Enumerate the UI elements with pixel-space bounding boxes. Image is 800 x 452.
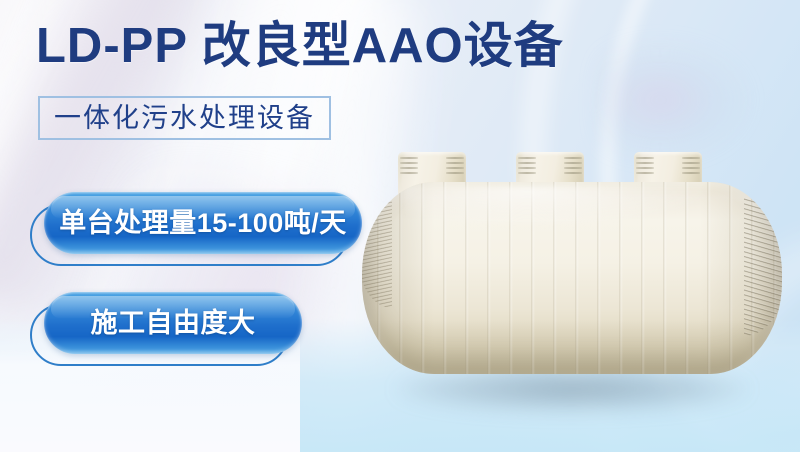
feature-pill-1-label: 单台处理量15-100吨/天 <box>59 210 347 237</box>
background-prism-tint <box>600 40 750 160</box>
product-banner: LD-PP 改良型AAO设备 一体化污水处理设备 单台处理量15-100吨/天 … <box>0 0 800 452</box>
tank-highlight <box>404 186 712 226</box>
feature-pill-2-body[interactable]: 施工自由度大 <box>44 292 302 354</box>
subtitle-box: 一体化污水处理设备 <box>38 96 331 140</box>
product-tank-illustration <box>352 152 792 394</box>
riser-fin-left-icon <box>518 155 536 179</box>
riser-fin-left-icon <box>636 155 654 179</box>
subtitle-text: 一体化污水处理设备 <box>54 105 315 132</box>
tank-end-cap-left-corrugation <box>362 190 392 308</box>
riser-fin-left-icon <box>400 155 418 179</box>
riser-fin-right-icon <box>564 155 582 179</box>
tank-bottom-shading <box>362 320 782 374</box>
page-title: LD-PP 改良型AAO设备 <box>36 18 564 76</box>
tank-body <box>362 182 782 374</box>
riser-fin-right-icon <box>682 155 700 179</box>
feature-pill-1-body[interactable]: 单台处理量15-100吨/天 <box>44 192 362 254</box>
feature-pill-2-label: 施工自由度大 <box>91 310 256 337</box>
riser-fin-right-icon <box>446 155 464 179</box>
